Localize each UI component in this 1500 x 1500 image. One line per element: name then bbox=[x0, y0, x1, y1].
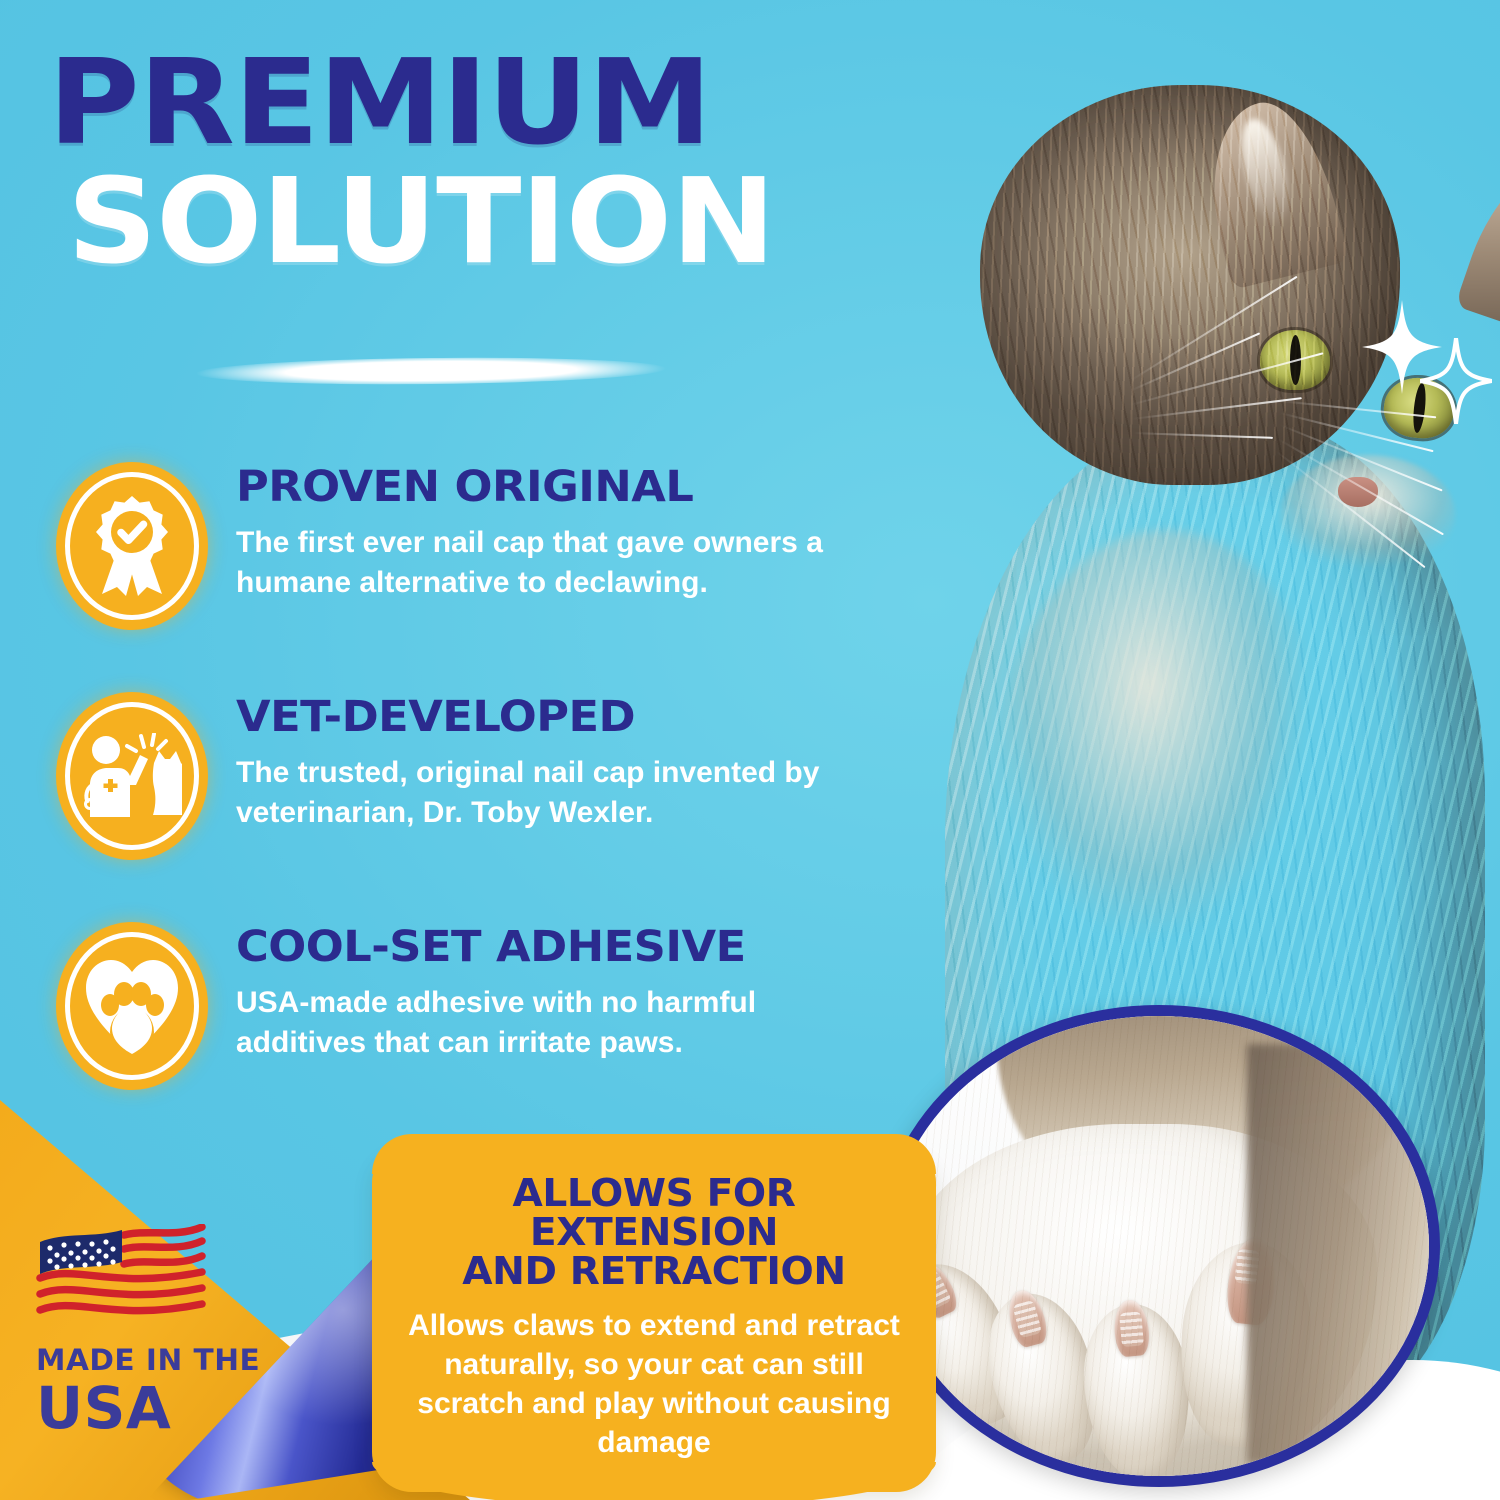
headline: PREMIUM SOLUTION bbox=[48, 48, 868, 275]
feature-item-proven-original: PROVEN ORIGINAL The first ever nail cap … bbox=[56, 462, 876, 630]
cat-ear-left bbox=[1191, 91, 1350, 290]
cat-ear-right bbox=[1455, 140, 1500, 345]
award-ribbon-check-icon bbox=[56, 462, 208, 630]
callout-title-line1: ALLOWS FOR EXTENSION bbox=[512, 1171, 795, 1254]
made-in-usa-badge: MADE IN THE USA bbox=[36, 1224, 296, 1438]
headline-line2: SOLUTION bbox=[48, 167, 917, 276]
feature-text: USA-made adhesive with no harmful additi… bbox=[236, 983, 846, 1063]
feature-body: COOL-SET ADHESIVE USA-made adhesive with… bbox=[236, 922, 846, 1063]
cat-whiskers bbox=[980, 320, 1410, 560]
cat-paw-with-nail-caps-photo bbox=[878, 1005, 1440, 1487]
callout-text: Allows claws to extend and retract natur… bbox=[398, 1306, 910, 1462]
feature-text: The trusted, original nail cap invented … bbox=[236, 753, 846, 833]
feature-title: COOL-SET ADHESIVE bbox=[236, 926, 870, 969]
feature-text: The first ever nail cap that gave owners… bbox=[236, 523, 846, 603]
made-in-usa-line1: MADE IN THE bbox=[36, 1346, 301, 1375]
feature-item-vet-developed: VET-DEVELOPED The trusted, original nail… bbox=[56, 692, 876, 860]
feature-item-cool-set-adhesive: COOL-SET ADHESIVE USA-made adhesive with… bbox=[56, 922, 876, 1090]
made-in-usa-line2: USA bbox=[36, 1379, 296, 1438]
paw-inset-photo bbox=[878, 1005, 1440, 1487]
headline-line1: PREMIUM bbox=[48, 48, 917, 157]
promo-infographic: PREMIUM SOLUTION PROVEN ORIGINAL The fir… bbox=[0, 0, 1500, 1500]
heart-paw-icon bbox=[56, 922, 208, 1090]
feature-list: PROVEN ORIGINAL The first ever nail cap … bbox=[56, 462, 876, 1152]
callout-title-line2: AND RETRACTION bbox=[390, 1252, 917, 1291]
usa-flag-icon bbox=[36, 1224, 206, 1332]
feature-body: PROVEN ORIGINAL The first ever nail cap … bbox=[236, 462, 846, 603]
callout-title: ALLOWS FOR EXTENSION AND RETRACTION bbox=[390, 1174, 917, 1290]
cat-chest-ruff bbox=[1000, 530, 1330, 1050]
sparkle-outline-icon bbox=[1420, 338, 1492, 424]
vet-high-five-cat-icon bbox=[56, 692, 208, 860]
made-in-usa-text: MADE IN THE USA bbox=[36, 1346, 296, 1438]
swoosh-divider bbox=[196, 356, 666, 387]
feature-body: VET-DEVELOPED The trusted, original nail… bbox=[236, 692, 846, 833]
feature-title: PROVEN ORIGINAL bbox=[236, 466, 870, 509]
feature-title: VET-DEVELOPED bbox=[236, 696, 870, 739]
extension-retraction-callout: ALLOWS FOR EXTENSION AND RETRACTION Allo… bbox=[372, 1148, 936, 1492]
